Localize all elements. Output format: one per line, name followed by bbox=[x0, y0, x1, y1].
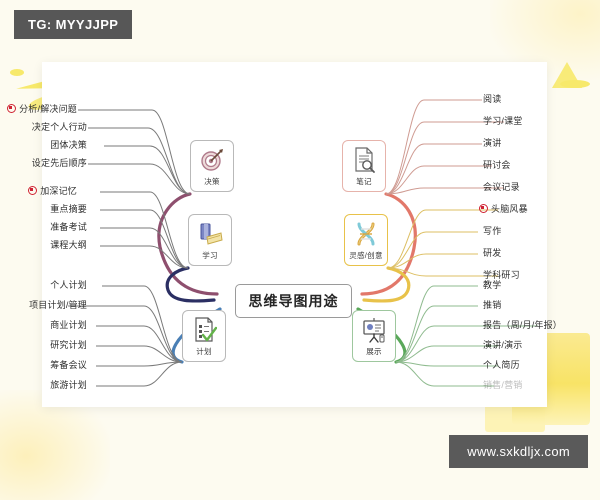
mindmap: 思维导图用途 决策 分析/解决问题 决定个人行动 团体决策 bbox=[42, 62, 547, 407]
leaf-item[interactable]: 头脑风暴 bbox=[476, 202, 531, 217]
leaf-item[interactable]: 研发 bbox=[480, 246, 504, 261]
branch-node-presentation[interactable]: 展示 bbox=[352, 310, 396, 362]
marker-icon bbox=[28, 186, 37, 195]
branch-label-plan: 计划 bbox=[196, 346, 212, 357]
leaf-item[interactable]: 推销 bbox=[480, 298, 504, 313]
leaf-item[interactable]: 研究计划 bbox=[47, 338, 90, 353]
connector-inspiration bbox=[364, 268, 409, 301]
leaf-item[interactable]: 筹备会议 bbox=[47, 358, 90, 373]
leaf-item[interactable]: 写作 bbox=[480, 224, 504, 239]
leaf-item[interactable]: 演讲 bbox=[480, 136, 504, 151]
leaf-item[interactable]: 加深记忆 bbox=[25, 184, 80, 199]
leaf-item[interactable]: 团体决策 bbox=[47, 138, 90, 153]
leaf-item[interactable]: 阅读 bbox=[480, 92, 504, 107]
leaf-item[interactable]: 项目计划/管理 bbox=[26, 298, 90, 313]
dna-icon bbox=[352, 219, 380, 249]
branch-label-notes: 笔记 bbox=[356, 176, 372, 187]
leaf-item[interactable]: 课程大纲 bbox=[47, 238, 90, 253]
projector-screen-icon bbox=[360, 315, 388, 345]
leaf-connectors-decision bbox=[78, 110, 190, 194]
branch-node-study[interactable]: 学习 bbox=[188, 214, 232, 266]
books-icon bbox=[196, 219, 224, 249]
leaf-item[interactable]: 个人简历 bbox=[480, 358, 523, 373]
mindmap-card: 思维导图用途 决策 分析/解决问题 决定个人行动 团体决策 bbox=[42, 62, 547, 407]
branch-label-decision: 决策 bbox=[204, 176, 220, 187]
mindmap-connectors bbox=[42, 62, 547, 407]
telegram-badge: TG: MYYJJPP bbox=[14, 10, 132, 39]
mindmap-center-node[interactable]: 思维导图用途 bbox=[235, 284, 352, 318]
checklist-icon bbox=[191, 315, 217, 345]
leaf-item[interactable]: 教学 bbox=[480, 278, 504, 293]
branch-node-decision[interactable]: 决策 bbox=[190, 140, 234, 192]
leaf-item[interactable]: 重点摘要 bbox=[47, 202, 90, 217]
document-search-icon bbox=[351, 145, 377, 175]
leaf-item[interactable]: 个人计划 bbox=[47, 278, 90, 293]
leaf-item[interactable]: 决定个人行动 bbox=[29, 120, 90, 135]
branch-label-study: 学习 bbox=[202, 250, 218, 261]
website-watermark: www.sxkdljx.com bbox=[449, 435, 588, 468]
leaf-item[interactable]: 研讨会 bbox=[480, 158, 514, 173]
leaf-item[interactable]: 准备考试 bbox=[47, 220, 90, 235]
leaf-item[interactable]: 报告（周/月/年报） bbox=[480, 318, 565, 333]
branch-label-inspiration: 灵感/创意 bbox=[349, 250, 383, 261]
leaf-item[interactable]: 学习/课堂 bbox=[480, 114, 526, 129]
leaf-item[interactable]: 分析/解决问题 bbox=[4, 102, 80, 117]
leaf-item[interactable]: 演讲/演示 bbox=[480, 338, 526, 353]
branch-label-presentation: 展示 bbox=[366, 346, 382, 357]
branch-node-notes[interactable]: 笔记 bbox=[342, 140, 386, 192]
marker-icon bbox=[479, 204, 488, 213]
branch-node-plan[interactable]: 计划 bbox=[182, 310, 226, 362]
leaf-item[interactable]: 旅游计划 bbox=[47, 378, 90, 393]
marker-icon bbox=[7, 104, 16, 113]
leaf-item[interactable]: 商业计划 bbox=[47, 318, 90, 333]
leaf-item[interactable]: 销售/营销 bbox=[480, 378, 526, 393]
leaf-item[interactable]: 设定先后顺序 bbox=[29, 156, 90, 171]
connector-study bbox=[167, 268, 214, 301]
target-icon bbox=[199, 145, 225, 175]
leaf-item[interactable]: 会议记录 bbox=[480, 180, 523, 195]
branch-node-inspiration[interactable]: 灵感/创意 bbox=[344, 214, 388, 266]
leaf-connectors-inspiration bbox=[388, 210, 498, 276]
